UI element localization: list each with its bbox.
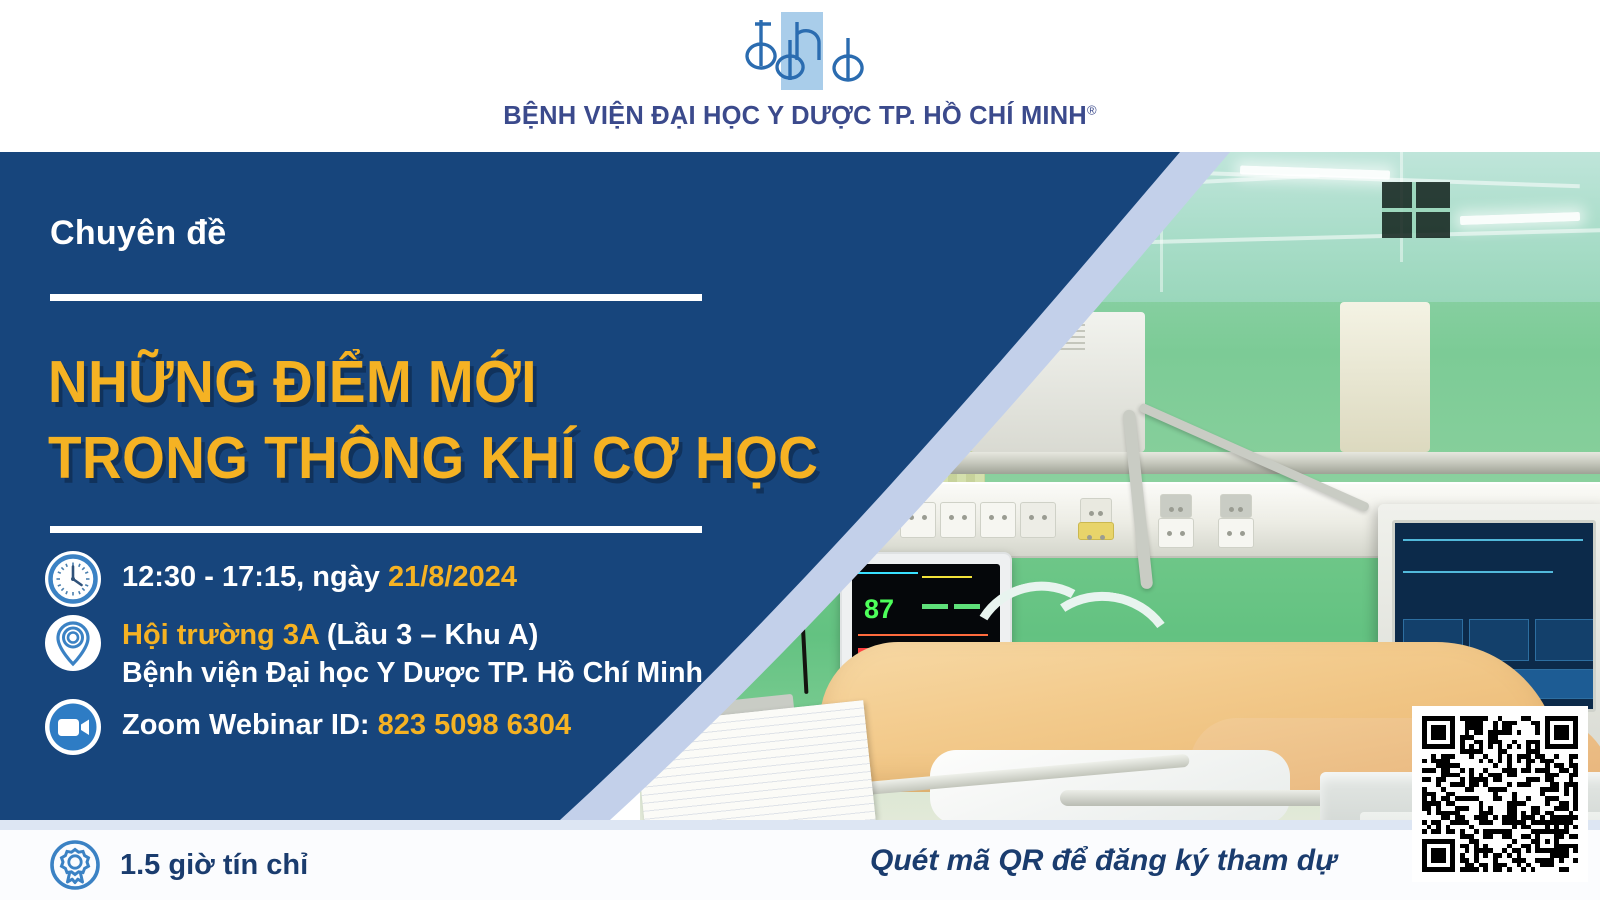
time-range: 12:30 - 17:15, ngày — [122, 561, 388, 593]
bhyd-monogram-logo — [735, 8, 865, 100]
divider-top — [50, 294, 702, 301]
kicker-label: Chuyên đề — [50, 214, 227, 253]
credit-hours-text: 1.5 giờ tín chỉ — [120, 849, 308, 882]
location-pin-icon — [44, 614, 102, 672]
info-row-venue: Hội trường 3A (Lầu 3 – Khu A) Bệnh viện … — [44, 614, 764, 692]
title-line-2: TRONG THÔNG KHÍ CƠ HỌC — [48, 424, 699, 492]
qr-code[interactable] — [1412, 706, 1588, 882]
info-row-zoom: Zoom Webinar ID: 823 5098 6304 — [44, 698, 764, 756]
credit-hours-row: 1.5 giờ tín chỉ — [48, 838, 308, 892]
info-row-time: 12:30 - 17:15, ngày 21/8/2024 — [44, 550, 764, 608]
zoom-webinar-id: 823 5098 6304 — [378, 709, 572, 741]
poster-root: BỆNH VIỆN ĐẠI HỌC Y DƯỢC TP. HỒ CHÍ MINH… — [0, 0, 1600, 900]
info-venue-text: Hội trường 3A (Lầu 3 – Khu A) Bệnh viện … — [122, 614, 703, 692]
zoom-label: Zoom Webinar ID: — [122, 709, 378, 741]
main-content: Chuyên đề NHỮNG ĐIỂM MỚI TRONG THÔNG KHÍ… — [0, 152, 760, 820]
hospital-name: BỆNH VIỆN ĐẠI HỌC Y DƯỢC TP. HỒ CHÍ MINH… — [0, 102, 1600, 131]
title-line-1: NHỮNG ĐIỂM MỚI — [48, 348, 699, 416]
event-date: 21/8/2024 — [388, 561, 517, 593]
event-info-list: 12:30 - 17:15, ngày 21/8/2024 Hội trường… — [44, 550, 764, 762]
venue-name: Hội trường 3A — [122, 619, 319, 651]
video-camera-icon — [44, 698, 102, 756]
venue-address: Bệnh viện Đại học Y Dược TP. Hồ Chí Minh — [122, 655, 703, 693]
poster-footer: 1.5 giờ tín chỉ Quét mã QR để đăng ký th… — [0, 830, 1600, 900]
hospital-name-text: BỆNH VIỆN ĐẠI HỌC Y DƯỢC TP. HỒ CHÍ MINH — [503, 102, 1087, 130]
footer-strip — [0, 820, 1600, 830]
poster-header: BỆNH VIỆN ĐẠI HỌC Y DƯỢC TP. HỒ CHÍ MINH… — [0, 0, 1600, 152]
qr-caption: Quét mã QR để đăng ký tham dự — [870, 844, 1337, 878]
registered-mark: ® — [1087, 103, 1097, 118]
monitor-value: 87 — [864, 594, 894, 625]
info-zoom-text: Zoom Webinar ID: 823 5098 6304 — [122, 698, 571, 745]
clock-icon — [44, 550, 102, 608]
divider-bottom — [50, 526, 702, 533]
venue-detail: (Lầu 3 – Khu A) — [319, 619, 539, 651]
info-time-text: 12:30 - 17:15, ngày 21/8/2024 — [122, 550, 517, 597]
medal-badge-icon — [48, 838, 102, 892]
